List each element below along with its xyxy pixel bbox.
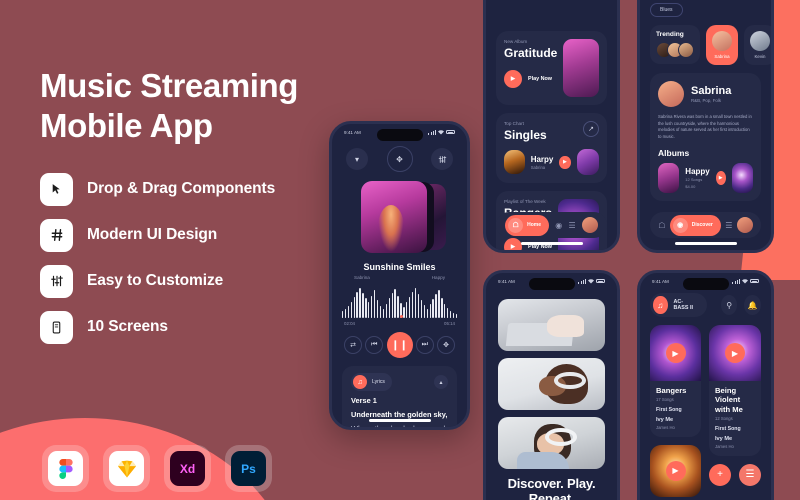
status-time: 9:41 AM [652, 279, 669, 284]
feature-list: Drop & Drag Components Modern UI Design … [40, 173, 340, 344]
album-art [658, 163, 679, 193]
now-playing-title: Sunshine Smiles [332, 262, 467, 272]
add-icon[interactable]: + [709, 464, 731, 486]
trending-group[interactable]: Trending [650, 25, 700, 64]
playlist-cover: ▶ [650, 325, 701, 381]
time-total: 05:14 [444, 321, 455, 326]
playlist-song-count: 12 Songs [715, 416, 755, 421]
shuffle-icon[interactable]: ✥ [387, 146, 413, 172]
track-thumbnail-secondary [577, 149, 599, 175]
status-icons [578, 279, 605, 284]
home-indicator [369, 419, 431, 422]
album-row[interactable]: Happy 12 Songs $4.00 ▶ [658, 163, 753, 193]
featured-album-card[interactable]: New Album Gratitude ▶ Play Now [496, 31, 607, 105]
playlist-song-count: 17 Songs [656, 397, 695, 402]
avatar [750, 31, 770, 51]
sketch-logo [109, 451, 144, 486]
track-thumbnail [504, 150, 525, 174]
feature-item-customize: Easy to Customize [40, 265, 340, 298]
play-now-button[interactable]: ▶ Play Now [504, 70, 557, 88]
hero-section: Music Streaming Mobile App Drop & Drag C… [40, 66, 340, 344]
play-now-button[interactable]: ▶ Play Now [504, 238, 552, 253]
playlist-file-icon[interactable]: ☰ [739, 464, 761, 486]
feature-item-screens: 10 Screens [40, 311, 340, 344]
artist-avatar [658, 81, 684, 107]
card-kicker: Top Chart [504, 121, 547, 126]
trending-person-kevin[interactable]: Kevin [744, 25, 774, 65]
phone-mockup-library: 9:41 AM ♫ AC-BASS II ⚲ 🔔 [637, 270, 774, 500]
wifi-icon [438, 130, 444, 135]
nav-item-label: Home [527, 222, 541, 228]
home-screen: New Album Gratitude ▶ Play Now Top Chart… [486, 0, 617, 250]
phone-mockup-onboarding: 9:41 AM [483, 270, 620, 500]
onboarding-photo-laptop [498, 299, 605, 351]
title-line-2: Mobile App [40, 106, 340, 146]
feature-label: 10 Screens [87, 318, 168, 336]
player-screen: 9:41 AM ▾ ✥ Sunshine Smi [332, 124, 467, 427]
device-label: AC-BASS II [674, 299, 697, 311]
sketch-logo-wrap [103, 445, 150, 492]
figma-logo [48, 451, 83, 486]
adobe-xd-label: Xd [180, 462, 195, 476]
status-bar: 9:41 AM [640, 273, 771, 289]
library-column-left: ▶ Bangers 17 Songs First Song Ivy Me Jam… [650, 325, 701, 497]
design-tool-logos: Xd Ps [42, 445, 272, 492]
status-bar: 9:41 AM [332, 124, 467, 140]
hash-icon [40, 219, 73, 252]
play-icon[interactable]: ▶ [725, 343, 745, 363]
top-chart-card[interactable]: Top Chart Singles ↗ Harpy Sabrina ▶ [496, 113, 607, 183]
playlist-card[interactable]: ▶ Being Violent with Me 12 Songs First S… [709, 325, 761, 456]
lyrics-panel-header: ♫ Lyrics ▴ [351, 373, 448, 391]
signal-icon [428, 130, 436, 135]
lyric-line: Verse 1 [351, 396, 448, 405]
playlist-title: Being Violent with Me [715, 386, 755, 414]
home-icon[interactable]: ☖ [658, 221, 665, 230]
lyrics-tag[interactable]: ♫ Lyrics [351, 373, 392, 391]
onboarding-photo-headphones [498, 358, 605, 410]
genre-chip-list: Pop R&B Rock Metal EDM Hip-hop Blues [640, 0, 771, 17]
photoshop-label: Ps [241, 462, 256, 476]
now-playing-artist: Sabrina [354, 275, 370, 280]
play-icon: ▶ [504, 238, 522, 253]
shuffle-icon[interactable]: ✥ [437, 336, 455, 354]
card-title: Gratitude [504, 46, 557, 60]
feature-label: Drop & Drag Components [87, 180, 275, 198]
artist-genres: R&B, Pop, Folk [691, 98, 731, 103]
playlist-card-body: Bangers 17 Songs First Song Ivy Me James… [650, 381, 701, 437]
nav-item-discover[interactable]: ◉ Discover [670, 215, 721, 236]
status-bar: 9:41 AM [486, 273, 617, 289]
library-header: ♫ AC-BASS II ⚲ 🔔 [640, 289, 771, 317]
waveform-visualizer[interactable] [342, 286, 457, 318]
compass-icon[interactable]: ◉ [555, 221, 562, 230]
trending-person-name: Sabrina [712, 54, 732, 59]
feature-item-drag-drop: Drop & Drag Components [40, 173, 340, 206]
play-icon: ▶ [504, 70, 522, 88]
albums-heading: Albums [658, 148, 753, 158]
now-playing-meta: Sabrina Happy [332, 272, 467, 280]
previous-icon[interactable]: ⏮ [365, 336, 383, 354]
time-elapsed: 02:04 [344, 321, 355, 326]
artist-header: Sabrina R&B, Pop, Folk [658, 81, 753, 107]
dynamic-island [683, 278, 729, 290]
chevron-up-icon[interactable]: ▴ [434, 375, 448, 389]
status-time: 9:41 AM [498, 279, 515, 284]
library-actions: + ☰ [709, 464, 761, 486]
dynamic-island [529, 278, 575, 290]
library-icon[interactable]: ☰ [725, 221, 732, 230]
playlist-card-extra[interactable]: ▶ [650, 445, 701, 497]
first-song-title: Ivy Me [656, 417, 695, 423]
artist-bio: Sabrina Rivera was born in a small town … [658, 114, 753, 141]
bottom-nav: ☖ Home ◉ ☰ [496, 212, 607, 238]
onboarding-title: Discover. Play. Repeat. [486, 476, 617, 500]
trending-label: Trending [656, 31, 694, 38]
next-icon[interactable]: ⏭ [416, 336, 434, 354]
wifi-icon [742, 279, 748, 284]
device-chip[interactable]: ♫ AC-BASS II [650, 293, 707, 317]
phone-mockup-artist: Pop R&B Rock Metal EDM Hip-hop Blues Tre… [637, 0, 774, 253]
profile-avatar[interactable] [582, 217, 598, 233]
library-column-right: ▶ Being Violent with Me 12 Songs First S… [709, 325, 761, 497]
card-kicker: New Album [504, 39, 557, 44]
lyric-line: Where the clouds dance and [351, 424, 448, 430]
avatar [712, 31, 732, 51]
first-song-heading: First Song [656, 407, 695, 413]
trending-avatars [656, 42, 694, 58]
trending-person-name: Kevin [750, 54, 770, 59]
avatar [678, 42, 694, 58]
status-icons [428, 130, 455, 135]
adobe-xd-logo: Xd [170, 451, 205, 486]
sliders-icon [40, 265, 73, 298]
first-song-title: Ivy Me [715, 436, 755, 442]
playlist-card[interactable]: ▶ Bangers 17 Songs First Song Ivy Me Jam… [650, 325, 701, 437]
artist-profile-card: Sabrina R&B, Pop, Folk Sabrina Rivera wa… [650, 73, 761, 201]
trending-person-sabrina[interactable]: Sabrina [706, 25, 738, 65]
library-icon[interactable]: ☰ [568, 221, 575, 230]
playlist-card-body: Being Violent with Me 12 Songs First Son… [709, 381, 761, 456]
nav-item-label: Discover [692, 222, 713, 228]
title-line-1: Music Streaming [40, 66, 340, 106]
featured-album-art [563, 39, 599, 97]
playhead-marker[interactable] [400, 315, 403, 318]
artist-name: Sabrina [691, 85, 731, 97]
first-song-heading: First Song [715, 426, 755, 432]
album-song-count: 12 Songs [685, 177, 709, 182]
signal-icon [578, 279, 586, 284]
album-art-carousel[interactable] [354, 181, 446, 253]
album-art-secondary [732, 163, 753, 193]
adobe-xd-logo-wrap: Xd [164, 445, 211, 492]
first-song-artist: James Ho [715, 444, 755, 449]
figma-logo-wrap [42, 445, 89, 492]
bottom-nav: ☖ ◉ Discover ☰ [650, 212, 761, 238]
playlist-title: Bangers [656, 386, 695, 395]
signal-icon [732, 279, 740, 284]
artist-screen: Pop R&B Rock Metal EDM Hip-hop Blues Tre… [640, 0, 771, 250]
home-indicator [521, 242, 583, 245]
play-now-label: Play Now [528, 76, 552, 82]
dynamic-island [377, 129, 423, 141]
page-title: Music Streaming Mobile App [40, 66, 340, 147]
onboarding-photo-relaxing [498, 417, 605, 469]
trending-section: Trending Sabrina Kevin [640, 17, 771, 65]
lyrics-label: Lyrics [372, 379, 385, 385]
first-song-artist: James Ho [656, 425, 695, 430]
headphones-icon: ♫ [653, 296, 668, 314]
feature-item-modern-ui: Modern UI Design [40, 219, 340, 252]
player-top-bar: ▾ ✥ [332, 140, 467, 172]
status-time: 9:41 AM [344, 130, 361, 135]
onboarding-screen: 9:41 AM [486, 273, 617, 500]
promo-banner: Music Streaming Mobile App Drop & Drag C… [0, 0, 800, 500]
play-icon[interactable]: ▶ [666, 461, 686, 481]
now-playing-album: Happy [432, 275, 445, 280]
pause-icon[interactable]: ❙❙ [387, 332, 413, 358]
feature-label: Modern UI Design [87, 226, 217, 244]
track-title: Harpy [531, 155, 554, 164]
battery-icon [750, 279, 759, 284]
phone-mockup-player: 9:41 AM ▾ ✥ Sunshine Smi [329, 121, 470, 430]
genre-chip-blues[interactable]: Blues [650, 3, 683, 17]
playlist-cover: ▶ [650, 445, 701, 497]
lyrics-icon: ♫ [353, 375, 367, 389]
repeat-icon[interactable]: ⇄ [344, 336, 362, 354]
playlist-cover: ▶ [709, 325, 761, 381]
chevron-down-icon[interactable]: ▾ [346, 148, 368, 170]
arrow-up-right-icon[interactable]: ↗ [583, 121, 599, 137]
nav-item-home[interactable]: ☖ Home [505, 215, 549, 236]
play-icon[interactable]: ▶ [666, 343, 686, 363]
album-price: $4.00 [685, 184, 709, 189]
wifi-icon [588, 279, 594, 284]
library-grid: ▶ Bangers 17 Songs First Song Ivy Me Jam… [640, 317, 771, 497]
photoshop-logo: Ps [231, 451, 266, 486]
compass-icon: ◉ [673, 218, 688, 233]
playback-time-row: 02:04 05:14 [332, 318, 467, 326]
photoshop-logo-wrap: Ps [225, 445, 272, 492]
equalizer-icon[interactable] [431, 148, 453, 170]
status-icons [732, 279, 759, 284]
bell-icon[interactable]: 🔔 [744, 295, 761, 315]
album-art-current [361, 181, 427, 253]
card-kicker: Playlist of The Week [504, 199, 552, 204]
home-indicator [675, 242, 737, 245]
search-icon[interactable]: ⚲ [721, 295, 738, 315]
mobile-phone-icon [40, 311, 73, 344]
card-title: Singles [504, 128, 547, 142]
cursor-arrow-icon [40, 173, 73, 206]
album-name: Happy [685, 167, 709, 176]
home-icon: ☖ [508, 218, 523, 233]
battery-icon [596, 279, 605, 284]
battery-icon [446, 130, 455, 135]
play-now-label: Play Now [528, 244, 552, 250]
transport-controls: ⇄ ⏮ ❙❙ ⏭ ✥ [332, 326, 467, 358]
feature-label: Easy to Customize [87, 272, 223, 290]
play-icon[interactable]: ▶ [716, 171, 726, 185]
track-artist: Sabrina [531, 165, 554, 170]
phone-mockup-home: New Album Gratitude ▶ Play Now Top Chart… [483, 0, 620, 253]
play-icon[interactable]: ▶ [559, 156, 570, 169]
profile-avatar[interactable] [737, 217, 753, 233]
library-screen: 9:41 AM ♫ AC-BASS II ⚲ 🔔 [640, 273, 771, 500]
